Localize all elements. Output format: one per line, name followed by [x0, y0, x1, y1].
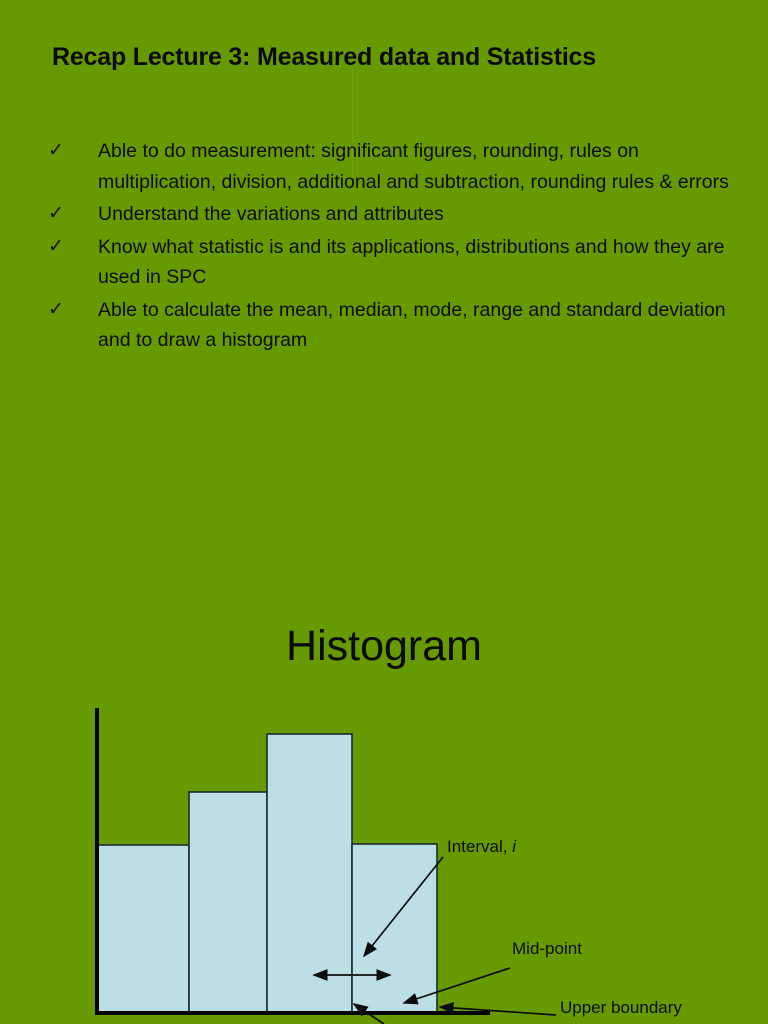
slide: Recap Lecture 3: Measured data and Stati…	[0, 0, 768, 1024]
check-icon: ✓	[48, 295, 64, 325]
annotation-upper-boundary: Upper boundary	[560, 998, 682, 1017]
annotation-midpoint: Mid-point	[512, 939, 582, 958]
list-item: ✓ Able to do measurement: significant fi…	[40, 136, 740, 197]
list-item-label: Understand the variations and attributes	[98, 199, 740, 230]
histogram-chart: Frequency Interval, i Mid-point	[0, 690, 768, 1024]
annotation-interval-symbol: i	[512, 837, 517, 856]
page-title: Recap Lecture 3: Measured data and Stati…	[52, 43, 742, 72]
check-icon: ✓	[48, 232, 64, 262]
histogram-svg: Frequency Interval, i Mid-point	[0, 690, 768, 1024]
list-item-label: Know what statistic is and its applicati…	[98, 232, 740, 293]
annotation-interval-prefix: Interval,	[447, 837, 512, 856]
histogram-bar	[189, 792, 267, 1013]
list-item: ✓ Understand the variations and attribut…	[40, 199, 740, 230]
list-item: ✓ Know what statistic is and its applica…	[40, 232, 740, 293]
histogram-heading: Histogram	[0, 620, 768, 672]
histogram-bar	[96, 845, 189, 1013]
list-item-label: Able to do measurement: significant figu…	[98, 136, 740, 197]
histogram-bar	[267, 734, 352, 1013]
check-icon: ✓	[48, 199, 64, 229]
check-icon: ✓	[48, 136, 64, 166]
annotation-interval: Interval, i	[447, 837, 517, 856]
histogram-bar	[352, 844, 437, 1013]
bullet-list: ✓ Able to do measurement: significant fi…	[40, 136, 740, 358]
list-item: ✓ Able to calculate the mean, median, mo…	[40, 295, 740, 356]
list-item-label: Able to calculate the mean, median, mode…	[98, 295, 740, 356]
